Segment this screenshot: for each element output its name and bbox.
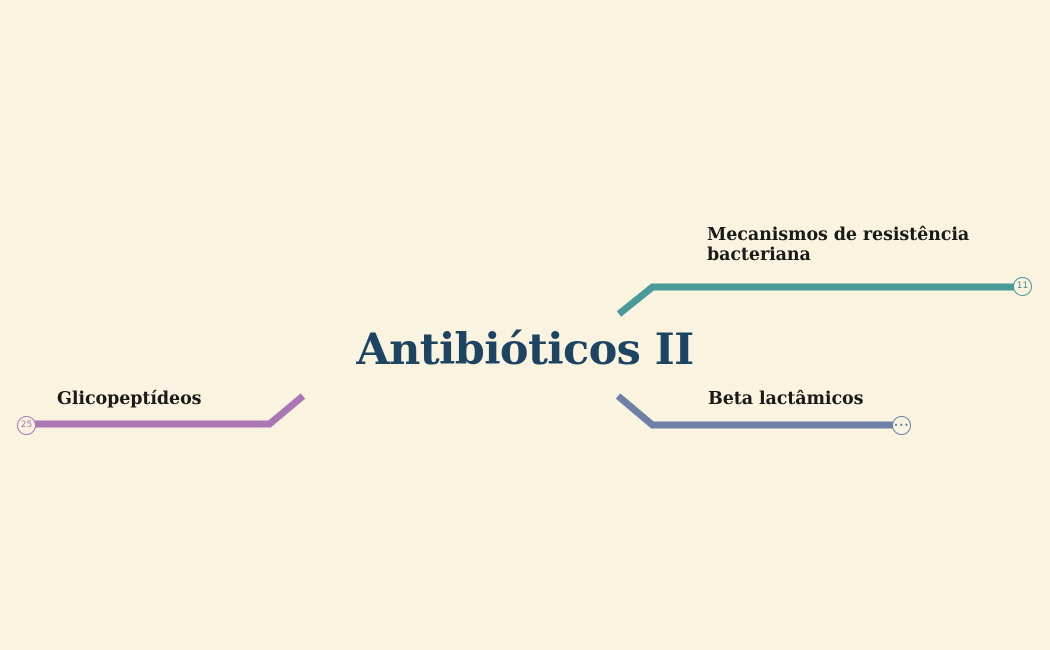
child-count-badge-resistencia[interactable]: 11	[1013, 277, 1032, 296]
branch-label-beta[interactable]: Beta lactâmicos	[708, 390, 1008, 410]
more-badge-beta[interactable]: •••	[892, 416, 911, 435]
mindmap-canvas[interactable]: Antibióticos II Mecanismos de resistênci…	[0, 0, 1050, 650]
branch-label-glicopeptideos[interactable]: Glicopeptídeos	[57, 390, 357, 410]
child-count-badge-glicopeptideos[interactable]: 25	[17, 416, 36, 435]
branch-label-resistencia[interactable]: Mecanismos de resistência bacteriana	[707, 226, 1007, 265]
central-topic[interactable]: Antibióticos II	[0, 325, 1050, 375]
branch-line-resistencia[interactable]	[619, 287, 1014, 314]
